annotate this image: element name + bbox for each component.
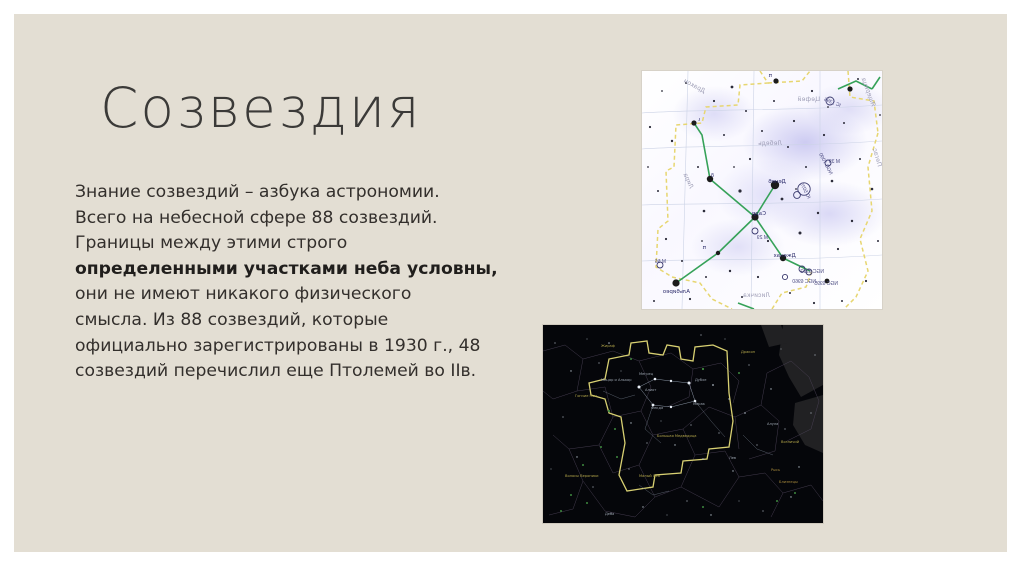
body-line: Всего на небесной сфере 88 созвездий. bbox=[75, 206, 505, 232]
body-text: Знание созвездий – азбука астрономии. Вс… bbox=[75, 180, 505, 385]
label-constellation-pegasus: Пегас bbox=[871, 147, 882, 168]
body-line: смысла. Из 88 созвездий, которые bbox=[75, 308, 505, 334]
body-line-emphasis: определенными участками неба условны, bbox=[75, 257, 505, 283]
label-megrez: Мегрец bbox=[639, 372, 654, 376]
label-alioth: Алиот bbox=[645, 388, 656, 392]
label-ngc-6992: NGC 6992 bbox=[800, 269, 824, 275]
label-constellation-lyra: Лира bbox=[681, 172, 694, 190]
label-coma-berenices: Волосы Вероники bbox=[565, 474, 599, 478]
label-canes-venatici: Гончие Псы bbox=[575, 394, 597, 398]
label-fecda: Фекда bbox=[651, 406, 663, 410]
label-virgo: Дева bbox=[605, 512, 614, 516]
label-leo: Лев bbox=[729, 456, 736, 460]
page-title: Созвездия bbox=[100, 76, 422, 140]
label-constellation-lacerta: Ящерица bbox=[860, 77, 877, 108]
label-pi: π bbox=[702, 245, 706, 251]
label-ngc-6995: NGC 6995 bbox=[814, 281, 838, 287]
star-chart-ursa-major-svg: Жираф Дракон Гончие Псы Большая Медведиц… bbox=[543, 325, 823, 523]
body-line: Границы между этими строго bbox=[75, 231, 505, 257]
label-lynx: Рысь bbox=[771, 468, 780, 472]
label-camelopardalis: Жираф bbox=[601, 344, 615, 348]
star-chart-cygnus-svg: Денеб Садр Дженах Альбирео δ ι π π NGC 7… bbox=[642, 71, 882, 309]
label-ic-1396: IC 1396 bbox=[823, 97, 842, 109]
label-draco: Дракон bbox=[741, 350, 756, 354]
star-chart-cygnus-image: Денеб Садр Дженах Альбирео δ ι π π NGC 7… bbox=[642, 71, 882, 309]
label-leo-minor: Малый Лев bbox=[639, 474, 660, 478]
stars-field bbox=[647, 78, 881, 304]
label-dubhe: Дубхе bbox=[695, 378, 707, 382]
label-deneb: Денеб bbox=[768, 179, 786, 185]
coordinate-grid bbox=[642, 71, 882, 309]
label-mizar-alcor: Мицар и Алькор bbox=[601, 378, 632, 382]
label-auriga: Возничий bbox=[781, 440, 800, 444]
label-constellation-draco: Дракон bbox=[682, 77, 706, 94]
label-alula: Алула bbox=[767, 422, 778, 426]
label-m56: M 56 bbox=[655, 259, 666, 265]
body-line: официально зарегистрированы в 1930 г., 4… bbox=[75, 334, 505, 360]
constellation-lines-cygnus bbox=[676, 77, 880, 309]
label-constellation-cygnus: Лебедь bbox=[758, 139, 782, 147]
label-albireo: Альбирео bbox=[663, 289, 690, 295]
label-ursa-major: Большая Медведица bbox=[657, 434, 696, 438]
label-merak: Мерак bbox=[693, 402, 706, 406]
label-gienah: Дженах bbox=[773, 253, 796, 259]
body-line: Знание созвездий – азбука астрономии. bbox=[75, 180, 505, 206]
label-delta: δ bbox=[711, 173, 714, 179]
label-iota: ι bbox=[698, 117, 700, 123]
label-sadr: Садр bbox=[751, 211, 766, 217]
slide: Созвездия Знание созвездий – азбука астр… bbox=[14, 14, 1007, 552]
label-constellation-cepheus: Цефей bbox=[797, 95, 820, 103]
body-line: созвездий перечислил еще Птолемей во IIв… bbox=[75, 359, 505, 385]
body-line: они не имеют никакого физического bbox=[75, 282, 505, 308]
star-chart-ursa-major-image: Жираф Дракон Гончие Псы Большая Медведиц… bbox=[542, 324, 824, 524]
label-m29: M 29 bbox=[757, 235, 768, 241]
label-ngc-6960: NGC 6960 bbox=[792, 279, 816, 285]
label-constellation-vulpecula: Лисичка bbox=[743, 292, 770, 299]
label-gemini: Близнецы bbox=[779, 480, 798, 484]
label-pi2: π bbox=[768, 73, 772, 79]
label-m39: M 39 bbox=[829, 159, 840, 165]
